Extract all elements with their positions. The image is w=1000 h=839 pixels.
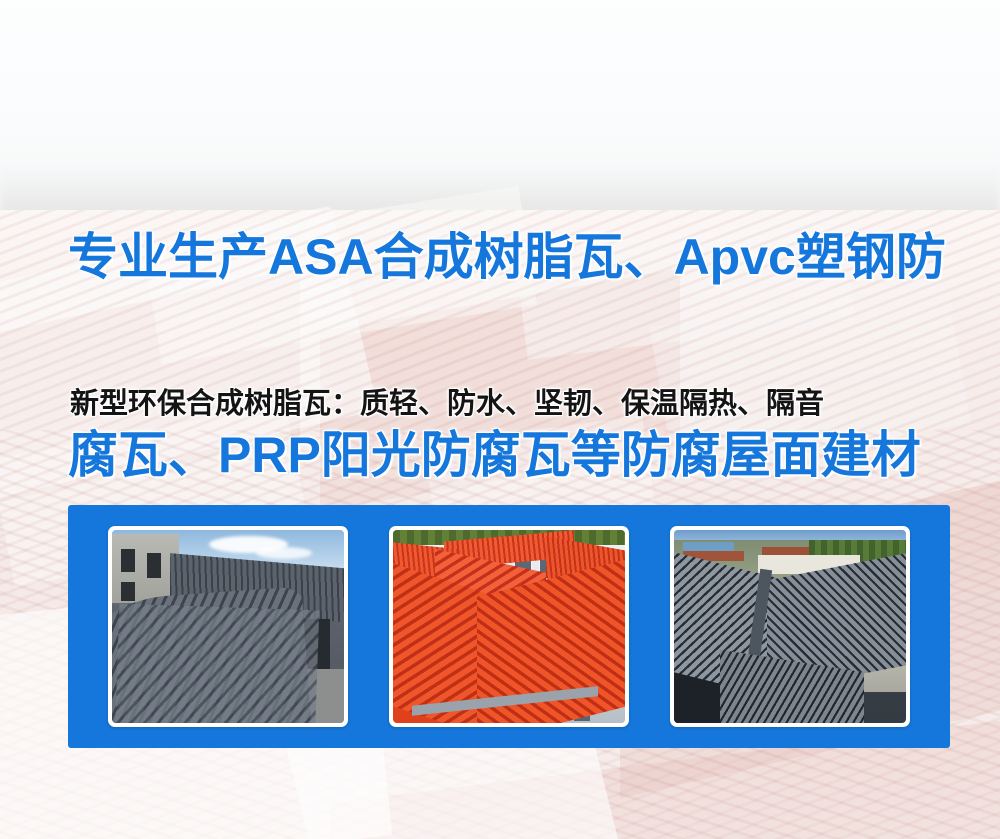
photo1-window: [147, 553, 161, 578]
photo-frame-2[interactable]: [389, 526, 629, 727]
photo-red-resin-tile-roof: [393, 530, 625, 723]
photo1-window: [121, 549, 135, 572]
photo-frame-3[interactable]: [670, 526, 910, 727]
product-banner: 专业生产ASA合成树脂瓦、Apvc塑钢防 腐瓦、PRP阳光防腐瓦等防腐屋面建材 …: [0, 0, 1000, 839]
photo-dark-resin-tile-roof: [674, 530, 906, 723]
photo-frame-1[interactable]: [108, 526, 348, 727]
photo1-window: [121, 582, 135, 601]
subheadline-line-1: 新型环保合成树脂瓦：质轻、防水、坚韧、保温隔热、隔音: [70, 378, 970, 431]
photo-grey-resin-tile-roof: [112, 530, 344, 723]
photo3-distant-red-roof: [762, 547, 808, 555]
photo1-cloud: [256, 547, 312, 559]
photo-gallery-panel: [68, 505, 950, 748]
photo1-main-tile-roof-highlight: [114, 604, 318, 723]
